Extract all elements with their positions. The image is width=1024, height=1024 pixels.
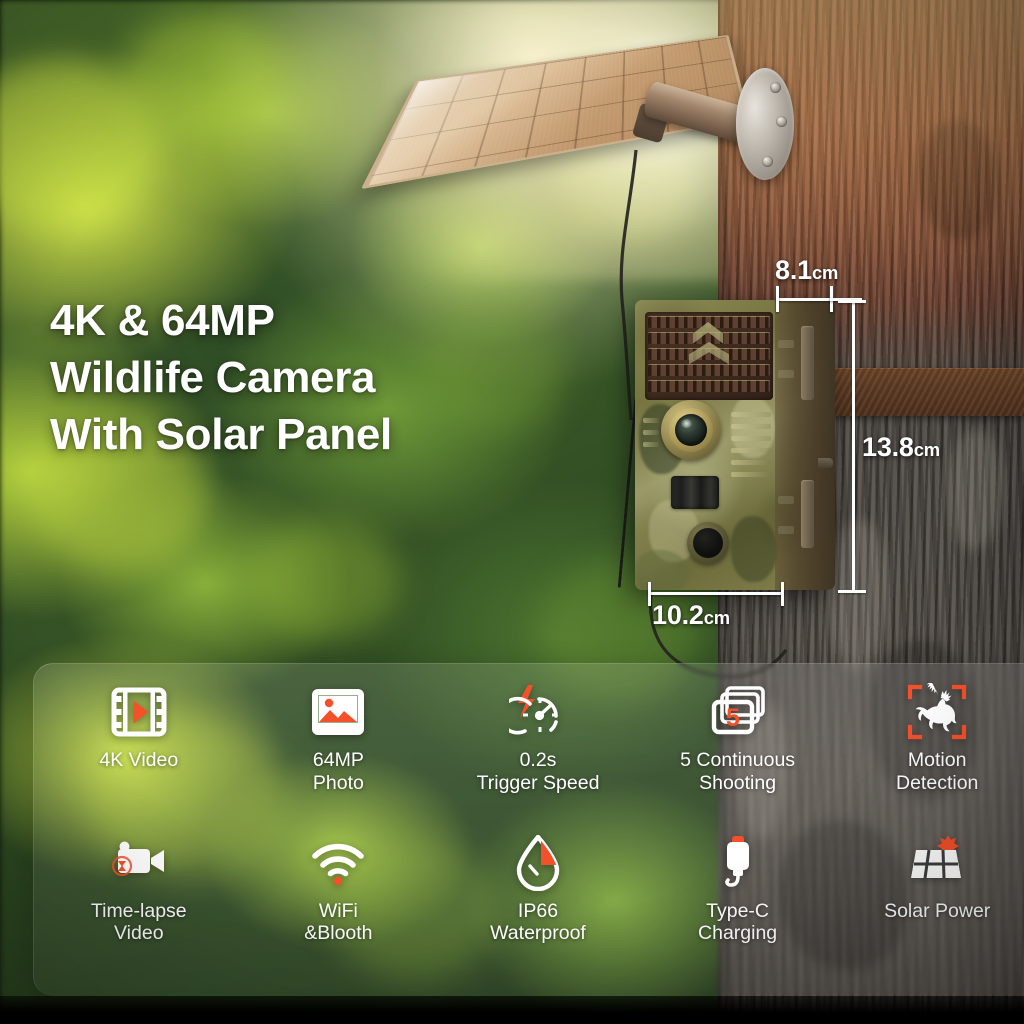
ir-led-row <box>648 364 770 376</box>
side-ridge <box>778 370 794 378</box>
wifi-signal-icon <box>306 832 370 894</box>
body-vent <box>731 448 771 453</box>
dim-width-horizontal <box>648 592 784 595</box>
dim-height-label: 13.8cm <box>862 432 940 463</box>
feature-label: Type-CCharging <box>698 900 777 945</box>
stacked-frames-5-icon: 5 <box>706 681 770 743</box>
mount-screw <box>762 156 773 167</box>
body-vent <box>731 424 771 429</box>
wall-mount-plate <box>736 68 794 180</box>
dim-depth-label: 8.1cm <box>775 255 838 286</box>
mount-screw <box>776 116 787 127</box>
deer-focus-bracket-icon <box>905 681 969 743</box>
feature-item-trigger-speed: 0.2sTrigger Speed <box>438 681 638 832</box>
usb-type-c-plug-icon <box>706 832 770 894</box>
ir-led-row <box>648 380 770 392</box>
feature-item-wifi-bluetooth: WiFi&Blooth <box>239 832 439 983</box>
camcorder-hourglass-icon <box>107 832 171 894</box>
body-vent <box>643 418 659 423</box>
feature-label: WiFi&Blooth <box>304 900 372 945</box>
bottom-band <box>0 996 1024 1024</box>
camera-lens-highlight <box>681 419 692 428</box>
dim-width-tick-left <box>648 582 651 606</box>
infrared-led-array <box>645 312 773 400</box>
headline-line-1: 4K & 64MP <box>50 292 392 349</box>
camera-lens-glass <box>675 414 707 446</box>
camera-latch <box>801 480 814 548</box>
feature-grid: 4K Video 64MPPhoto <box>33 663 1024 996</box>
water-droplet-icon <box>506 832 570 894</box>
feature-label: 4K Video <box>99 749 178 772</box>
product-banner: 8.1cm 13.8cm 10.2cm 4K & 64MP Wildlife C… <box>0 0 1024 1024</box>
mount-screw <box>770 82 781 93</box>
camo-patch <box>635 550 689 590</box>
dim-width-tick-right <box>781 582 784 606</box>
film-strip-play-icon <box>107 681 171 743</box>
pir-motion-sensor <box>671 476 719 509</box>
feature-item-type-c-charging: Type-CCharging <box>638 832 838 983</box>
side-ridge <box>778 526 794 534</box>
camo-patch <box>731 516 777 582</box>
feature-item-4k-video: 4K Video <box>39 681 239 832</box>
dim-width-label: 10.2cm <box>652 600 730 631</box>
body-vent <box>731 460 771 465</box>
svg-text:5: 5 <box>726 704 740 732</box>
solar-panel-sun-icon <box>905 832 969 894</box>
feature-label: Solar Power <box>884 900 990 923</box>
camera-side-knob <box>818 458 833 468</box>
side-ridge <box>778 340 794 348</box>
feature-label: 5 ContinuousShooting <box>680 749 795 794</box>
dim-depth-tick-left <box>776 286 779 312</box>
dim-width-unit: cm <box>704 607 730 628</box>
trail-camera <box>635 300 835 590</box>
feature-item-waterproof: IP66Waterproof <box>438 832 638 983</box>
lightning-speedometer-icon <box>506 681 570 743</box>
dim-height-tick-top <box>838 300 866 303</box>
dim-depth-horizontal <box>776 298 832 301</box>
side-ridge <box>778 496 794 504</box>
dim-height-unit: cm <box>914 439 940 460</box>
photo-image-icon <box>306 681 370 743</box>
feature-label: 64MPPhoto <box>313 749 364 794</box>
solar-panel-assembly <box>420 0 800 234</box>
feature-label: 0.2sTrigger Speed <box>477 749 600 794</box>
feature-item-64mp-photo: 64MPPhoto <box>239 681 439 832</box>
feature-item-continuous-shooting: 5 5 ContinuousShooting <box>638 681 838 832</box>
body-vent <box>731 436 771 441</box>
page-title: 4K & 64MP Wildlife Camera With Solar Pan… <box>50 292 392 464</box>
feature-item-solar-power: Solar Power <box>837 832 1024 983</box>
dim-width-value: 10.2 <box>652 600 704 630</box>
dim-height-vertical <box>852 300 855 592</box>
dim-depth-unit: cm <box>812 262 838 283</box>
body-vent <box>731 472 771 477</box>
body-vent <box>731 412 771 417</box>
dim-depth-value: 8.1 <box>775 255 812 285</box>
feature-label: IP66Waterproof <box>490 900 586 945</box>
body-vent <box>643 430 659 435</box>
dim-height-tick-bot <box>838 590 866 593</box>
feature-item-motion-detection: MotionDetection <box>837 681 1024 832</box>
light-sensor-glass <box>693 528 723 558</box>
feature-label: Time-lapseVideo <box>91 900 187 945</box>
feature-label: MotionDetection <box>896 749 978 794</box>
dim-height-value: 13.8 <box>862 432 914 462</box>
headline-line-3: With Solar Panel <box>50 406 392 463</box>
headline-line-2: Wildlife Camera <box>50 349 392 406</box>
camera-latch <box>801 326 814 400</box>
feature-item-time-lapse: Time-lapseVideo <box>39 832 239 983</box>
body-vent <box>643 442 659 447</box>
